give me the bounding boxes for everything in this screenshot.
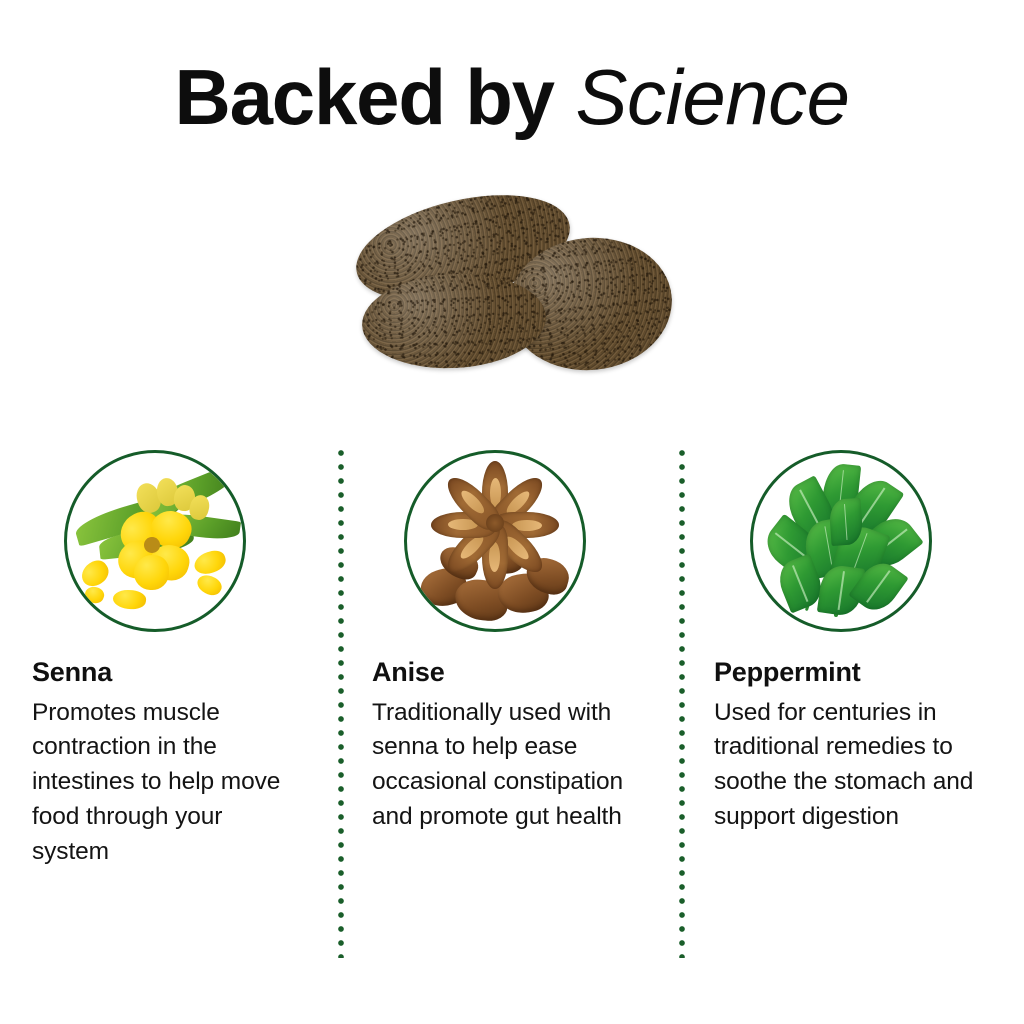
peppermint-art bbox=[753, 453, 929, 629]
page-title: Backed by Science bbox=[0, 58, 1024, 136]
ingredient-heading-senna: Senna bbox=[32, 658, 332, 688]
ingredient-column-senna: Senna Promotes muscle contraction in the… bbox=[32, 450, 332, 870]
senna-flower-image bbox=[64, 450, 246, 632]
ingredient-column-peppermint: Peppermint Used for centuries in traditi… bbox=[714, 450, 1014, 835]
page-title-italic: Science bbox=[576, 53, 850, 141]
page-title-bold: Backed by bbox=[174, 53, 553, 141]
ingredient-heading-anise: Anise bbox=[372, 658, 672, 688]
ingredient-column-anise: Anise Traditionally used with senna to h… bbox=[372, 450, 672, 835]
anise-art bbox=[407, 453, 583, 629]
infographic-page: Backed by Science bbox=[0, 0, 1024, 1024]
ingredient-body-senna: Promotes muscle contraction in the intes… bbox=[32, 696, 294, 870]
senna-art bbox=[67, 453, 243, 629]
ingredient-body-peppermint: Used for centuries in traditional remedi… bbox=[714, 696, 976, 835]
star-anise-image bbox=[404, 450, 586, 632]
herbal-tablets-photo bbox=[340, 196, 684, 382]
peppermint-leaves-image bbox=[750, 450, 932, 632]
ingredient-body-anise: Traditionally used with senna to help ea… bbox=[372, 696, 634, 835]
ingredient-columns: Senna Promotes muscle contraction in the… bbox=[0, 450, 1024, 970]
ingredient-heading-peppermint: Peppermint bbox=[714, 658, 1014, 688]
